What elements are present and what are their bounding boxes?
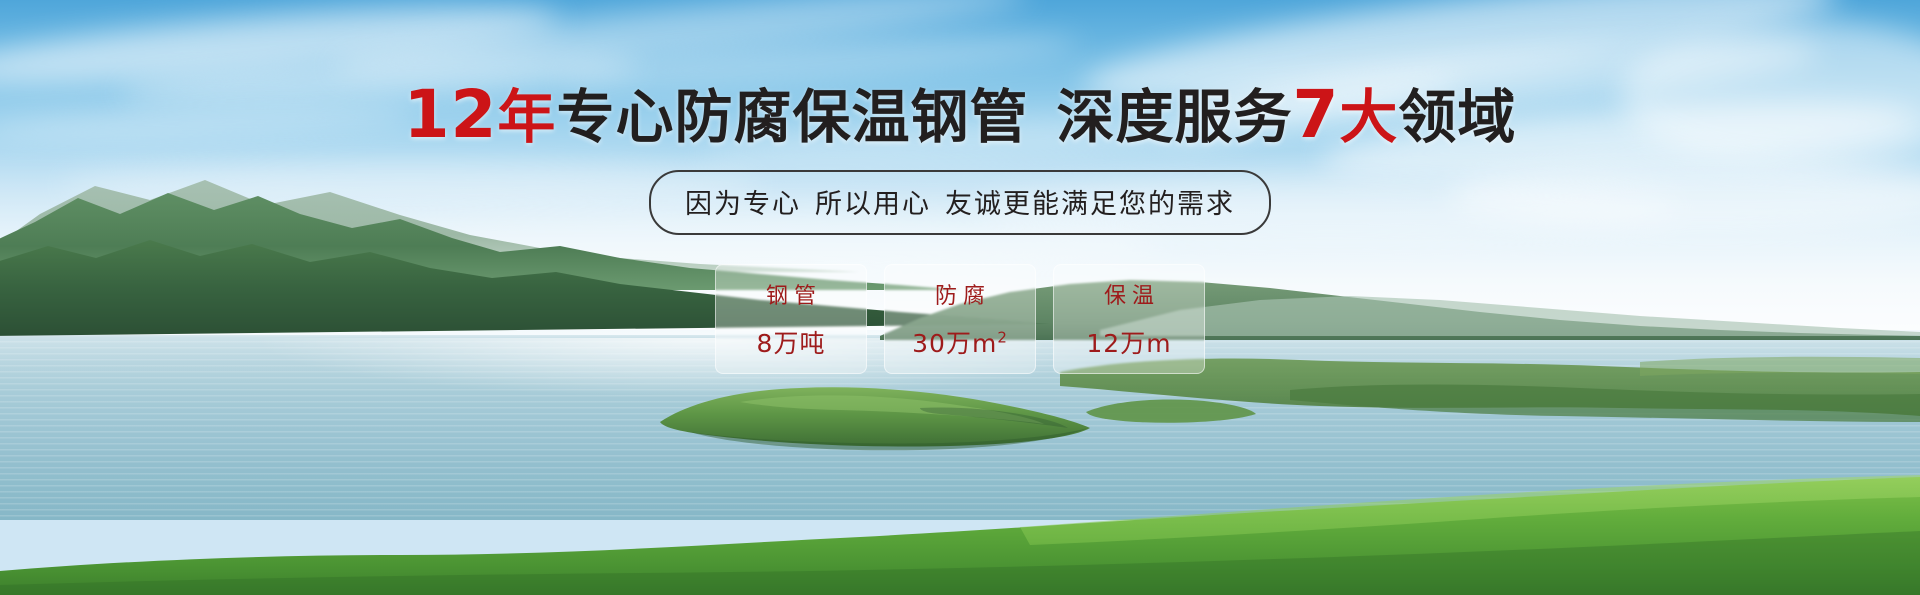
subtitle-part-1: 因为专心 bbox=[685, 189, 801, 220]
subtitle-part-3: 友诚更能满足您的需求 bbox=[945, 189, 1235, 220]
stat-card-value-text: 12万m bbox=[1086, 329, 1171, 358]
stat-card-group: 钢管 8万吨 防腐 30万m2 保温 12万m bbox=[715, 264, 1205, 374]
stat-card-steel-pipe[interactable]: 钢管 8万吨 bbox=[715, 264, 867, 374]
stat-card-value-superscript: 2 bbox=[997, 329, 1008, 347]
headline-fields-number: 7 bbox=[1292, 76, 1339, 153]
grass-foreground bbox=[0, 475, 1920, 595]
stat-card-value: 8万吨 bbox=[757, 324, 826, 360]
stat-card-label: 钢管 bbox=[760, 278, 822, 310]
headline-fields-word: 大 bbox=[1339, 83, 1398, 151]
hero-banner: 12年专心防腐保温钢管深度服务7大领域 因为专心所以用心友诚更能满足您的需求 钢… bbox=[0, 0, 1920, 595]
stat-card-value: 12万m bbox=[1086, 324, 1171, 360]
stat-card-value-text: 30万m bbox=[912, 329, 997, 358]
stat-card-label: 保温 bbox=[1098, 278, 1160, 310]
grass-islet bbox=[1080, 392, 1260, 430]
headline-years-unit: 年 bbox=[497, 83, 556, 151]
stat-card-label: 防腐 bbox=[929, 278, 991, 310]
subtitle-pill: 因为专心所以用心友诚更能满足您的需求 bbox=[649, 170, 1271, 235]
headline-fields-text: 领域 bbox=[1398, 83, 1516, 151]
headline-second-text: 深度服务 bbox=[1056, 83, 1292, 151]
stat-card-anticorrosion[interactable]: 防腐 30万m2 bbox=[884, 264, 1036, 374]
grass-island bbox=[620, 378, 1140, 458]
stat-card-insulation[interactable]: 保温 12万m bbox=[1053, 264, 1205, 374]
stat-card-value-text: 8万吨 bbox=[757, 329, 826, 358]
page-title: 12年专心防腐保温钢管深度服务7大领域 bbox=[0, 84, 1920, 148]
stat-card-value: 30万m2 bbox=[912, 324, 1008, 360]
subtitle-part-2: 所以用心 bbox=[815, 189, 931, 220]
headline-years-number: 12 bbox=[404, 76, 498, 153]
headline-lead-text: 专心防腐保温钢管 bbox=[556, 83, 1028, 151]
